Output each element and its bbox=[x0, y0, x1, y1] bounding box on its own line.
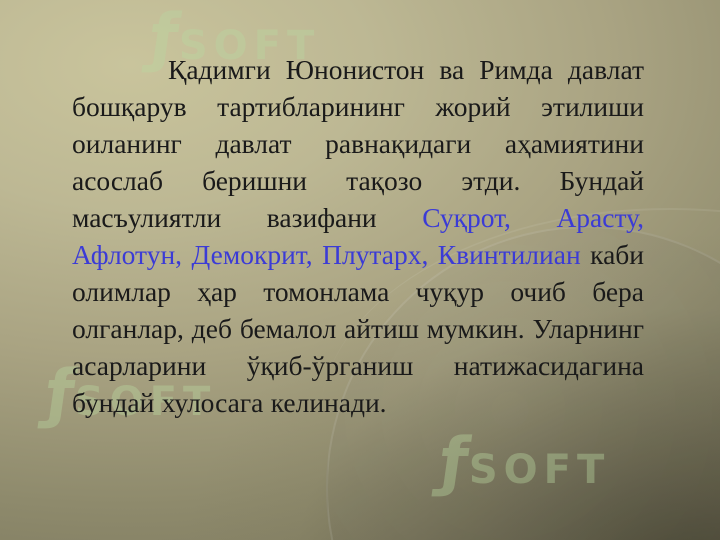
watermark-logo: ƒSOFT bbox=[440, 430, 610, 494]
watermark-text: SOFT bbox=[469, 447, 610, 493]
watermark-glyph-icon: ƒ bbox=[436, 430, 474, 494]
slide-text-body: Қадимги Юнонистон ва Римда давлат бошқар… bbox=[72, 52, 644, 422]
slide-canvas: ƒSOFT ƒSOFT ƒSOFT Қадимги Юнонистон ва Р… bbox=[0, 0, 720, 540]
body-paragraph: Қадимги Юнонистон ва Римда давлат бошқар… bbox=[72, 52, 644, 422]
